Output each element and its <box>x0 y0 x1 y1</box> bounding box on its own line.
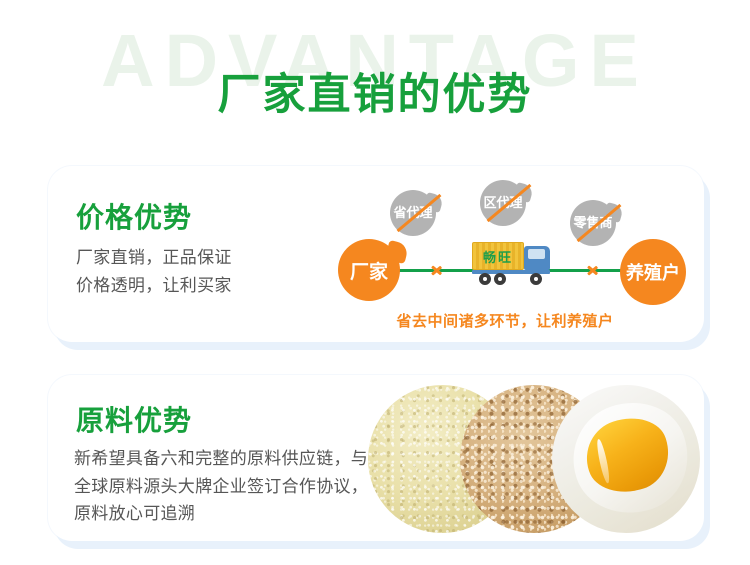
advantage-page: ADVANTAGE 厂家直销的优势 价格优势 厂家直销，正品保证 价格透明，让利… <box>0 0 750 565</box>
card-price-advantage: 价格优势 厂家直销，正品保证 价格透明，让利买家 厂家 养殖户 省代理 区代理 … <box>48 166 704 342</box>
flow-node-farmer-label: 养殖户 <box>626 259 680 285</box>
truck-cab <box>524 246 550 270</box>
photo-soybean-oil <box>552 385 700 533</box>
blocked-node-provincial-agent-label: 省代理 <box>390 206 435 220</box>
ingredient-photo-group <box>368 379 688 539</box>
flow-node-factory: 厂家 <box>338 239 400 301</box>
arrow-right-icon <box>588 262 603 279</box>
oil-highlight <box>595 438 611 483</box>
blocked-node-retailer: 零售商 <box>570 200 616 246</box>
truck-brand-label: 畅旺 <box>473 243 523 269</box>
card-price-body: 厂家直销，正品保证 价格透明，让利买家 <box>76 244 326 299</box>
blocked-node-retailer-label: 零售商 <box>570 216 615 230</box>
blocked-node-district-agent-label: 区代理 <box>480 196 525 210</box>
card-material-body: 新希望具备六和完整的原料供应链，与全球原料源头大牌企业签订合作协议，原料放心可追… <box>74 445 374 528</box>
page-title: 厂家直销的优势 <box>0 72 750 119</box>
supply-chain-diagram: 厂家 养殖户 省代理 区代理 零售商 畅旺 <box>320 178 690 336</box>
blocked-node-district-agent: 区代理 <box>480 180 526 226</box>
card-material-heading: 原料优势 <box>76 399 192 439</box>
page-header: ADVANTAGE 厂家直销的优势 <box>0 0 750 150</box>
truck-wheel <box>530 273 542 285</box>
delivery-truck-icon: 畅旺 <box>472 240 556 288</box>
truck-container: 畅旺 <box>472 242 524 270</box>
flow-caption: 省去中间诸多环节，让利养殖户 <box>320 310 690 331</box>
card-material-advantage: 原料优势 新希望具备六和完整的原料供应链，与全球原料源头大牌企业签订合作协议，原… <box>48 375 704 541</box>
truck-wheel <box>494 273 506 285</box>
truck-wheel <box>479 273 491 285</box>
flow-node-farmer: 养殖户 <box>620 239 686 305</box>
blocked-node-provincial-agent: 省代理 <box>390 190 436 236</box>
arrow-right-icon <box>432 262 447 279</box>
flow-node-factory-label: 厂家 <box>350 257 388 284</box>
oil-bowl <box>559 388 700 528</box>
oil-surface <box>577 408 678 502</box>
card-price-heading: 价格优势 <box>76 196 192 236</box>
